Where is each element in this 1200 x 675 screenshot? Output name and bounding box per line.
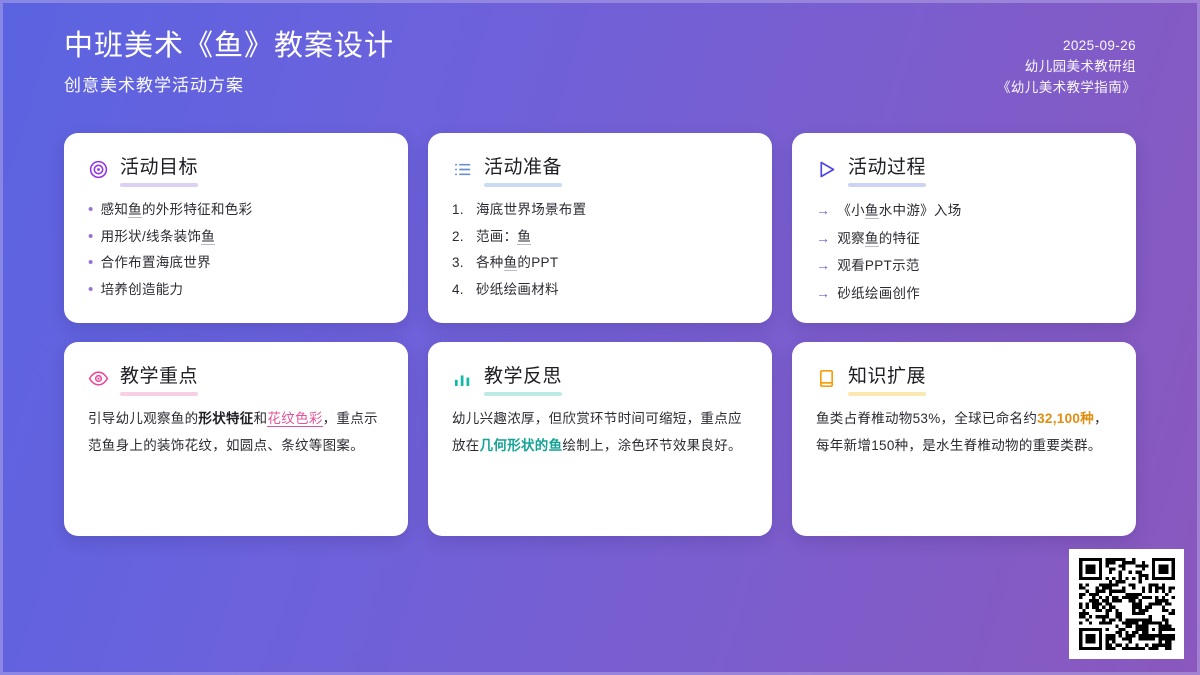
list-item-text: 观看PPT示范: [837, 253, 919, 280]
card-header: 活动目标: [88, 155, 198, 183]
header-organization: 幼儿园美术教研组: [1025, 56, 1136, 77]
card-teaching-reflection[interactable]: 教学反思 幼儿兴趣浓厚，但欣赏环节时间可缩短，重点应放在几何形状的鱼绘制上，涂色…: [428, 342, 772, 536]
list-item: → 观察鱼的特征: [816, 225, 1112, 253]
list-item-text: 观察鱼的特征: [837, 226, 920, 253]
list-item-text: 范画：鱼: [476, 224, 531, 251]
list-item-text: 砂纸绘画材料: [476, 277, 559, 304]
page-subtitle: 创意美术教学活动方案: [64, 72, 394, 100]
emphasis-highlight: 花纹色彩: [267, 411, 322, 427]
list-number: 3.: [452, 250, 469, 277]
goal-list: • 感知鱼的外形特征和色彩 • 用形状/线条装饰鱼 • 合作布置海底世界 • 培…: [88, 197, 384, 303]
arrow-icon: →: [816, 225, 830, 252]
eye-icon: [88, 368, 109, 389]
list-item-text: 培养创造能力: [101, 277, 184, 304]
list-item-text: 感知鱼的外形特征和色彩: [101, 197, 253, 224]
list-item-text: 合作布置海底世界: [101, 250, 211, 277]
list-item-text: 《小鱼水中游》入场: [837, 198, 961, 225]
card-title: 教学重点: [120, 364, 198, 392]
list-item: 2. 范画：鱼: [452, 224, 748, 251]
list-item: • 培养创造能力: [88, 277, 384, 304]
header-title-block: 中班美术《鱼》教案设计 创意美术教学活动方案: [64, 26, 394, 100]
list-item: • 用形状/线条装饰鱼: [88, 224, 384, 251]
bullet-icon: •: [88, 277, 94, 304]
header-meta-block: 2025-09-26 幼儿园美术教研组 《幼儿美术教学指南》: [997, 35, 1136, 98]
focus-paragraph: 引导幼儿观察鱼的形状特征和花纹色彩，重点示范鱼身上的装饰花纹，如圆点、条纹等图案…: [88, 406, 384, 459]
play-triangle-icon: [816, 159, 837, 180]
bullet-icon: •: [88, 250, 94, 277]
list-item: 1. 海底世界场景布置: [452, 197, 748, 224]
card-title: 活动准备: [484, 155, 562, 183]
card-header: 教学反思: [452, 364, 562, 392]
list-item: 4. 砂纸绘画材料: [452, 277, 748, 304]
page-title: 中班美术《鱼》教案设计: [64, 26, 394, 66]
card-activity-preparation[interactable]: 活动准备 1. 海底世界场景布置 2. 范画：鱼 3. 各种鱼的PPT 4. 砂…: [428, 133, 772, 323]
slide-header: 中班美术《鱼》教案设计 创意美术教学活动方案 2025-09-26 幼儿园美术教…: [0, 0, 1200, 122]
list-item: • 合作布置海底世界: [88, 250, 384, 277]
list-icon: [452, 159, 473, 180]
reflection-paragraph: 幼儿兴趣浓厚，但欣赏环节时间可缩短，重点应放在几何形状的鱼绘制上，涂色环节效果良…: [452, 406, 748, 459]
list-number: 2.: [452, 224, 469, 251]
bullet-icon: •: [88, 224, 94, 251]
card-teaching-focus[interactable]: 教学重点 引导幼儿观察鱼的形状特征和花纹色彩，重点示范鱼身上的装饰花纹，如圆点、…: [64, 342, 408, 536]
emphasis-highlight: 32,100种: [1037, 411, 1094, 426]
card-title: 教学反思: [484, 364, 562, 392]
card-title: 活动过程: [848, 155, 926, 183]
bullet-icon: •: [88, 197, 94, 224]
card-header: 教学重点: [88, 364, 198, 392]
card-title: 知识扩展: [848, 364, 926, 392]
list-item-text: 砂纸绘画创作: [837, 281, 920, 308]
header-date: 2025-09-26: [1063, 35, 1136, 56]
card-header: 活动过程: [816, 155, 926, 183]
header-source: 《幼儿美术教学指南》: [997, 77, 1136, 98]
list-number: 1.: [452, 197, 469, 224]
qr-code-image: [1079, 558, 1175, 650]
bar-chart-icon: [452, 368, 473, 389]
list-item: → 《小鱼水中游》入场: [816, 197, 1112, 225]
target-icon: [88, 159, 109, 180]
emphasis-highlight: 几何形状的鱼: [480, 438, 563, 453]
card-title: 活动目标: [120, 155, 198, 183]
list-item: • 感知鱼的外形特征和色彩: [88, 197, 384, 224]
list-item: 3. 各种鱼的PPT: [452, 250, 748, 277]
card-knowledge-extension[interactable]: 知识扩展 鱼类占脊椎动物53%，全球已命名约32,100种，每年新增150种，是…: [792, 342, 1136, 536]
process-list: → 《小鱼水中游》入场 → 观察鱼的特征 → 观看PPT示范 → 砂纸绘画创作: [816, 197, 1112, 307]
list-number: 4.: [452, 277, 469, 304]
list-item-text: 用形状/线条装饰鱼: [101, 224, 215, 251]
card-grid: 活动目标 • 感知鱼的外形特征和色彩 • 用形状/线条装饰鱼 • 合作布置海底世…: [64, 133, 1136, 536]
emphasis-bold: 形状特征: [198, 411, 253, 426]
book-icon: [816, 368, 837, 389]
list-item: → 观看PPT示范: [816, 252, 1112, 280]
list-item-text: 各种鱼的PPT: [476, 250, 558, 277]
arrow-icon: →: [816, 252, 830, 279]
qr-code[interactable]: [1069, 549, 1184, 659]
slide-root: 中班美术《鱼》教案设计 创意美术教学活动方案 2025-09-26 幼儿园美术教…: [0, 0, 1200, 675]
card-header: 活动准备: [452, 155, 562, 183]
list-item: → 砂纸绘画创作: [816, 280, 1112, 308]
arrow-icon: →: [816, 280, 830, 307]
card-activity-process[interactable]: 活动过程 → 《小鱼水中游》入场 → 观察鱼的特征 → 观看PPT示范 → 砂纸…: [792, 133, 1136, 323]
list-item-text: 海底世界场景布置: [476, 197, 586, 224]
card-header: 知识扩展: [816, 364, 926, 392]
preparation-list: 1. 海底世界场景布置 2. 范画：鱼 3. 各种鱼的PPT 4. 砂纸绘画材料: [452, 197, 748, 303]
arrow-icon: →: [816, 197, 830, 224]
knowledge-paragraph: 鱼类占脊椎动物53%，全球已命名约32,100种，每年新增150种，是水生脊椎动…: [816, 406, 1112, 459]
card-activity-goals[interactable]: 活动目标 • 感知鱼的外形特征和色彩 • 用形状/线条装饰鱼 • 合作布置海底世…: [64, 133, 408, 323]
